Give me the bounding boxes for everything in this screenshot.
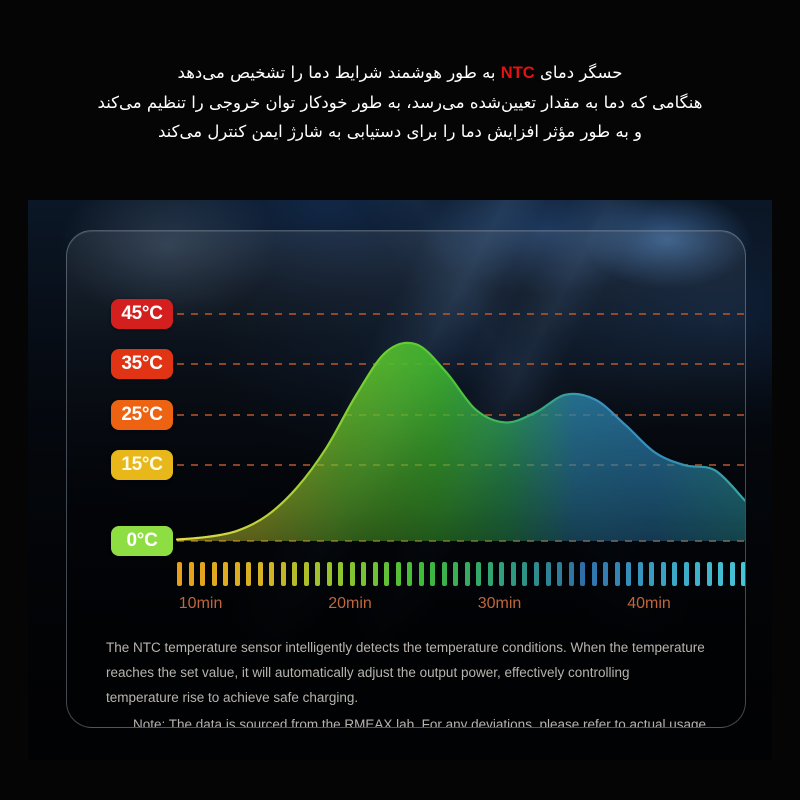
gauge-bar	[626, 562, 631, 586]
gauge-bar	[407, 562, 412, 586]
gauge-bar	[327, 562, 332, 586]
temp-chip-45c: 45°C	[111, 299, 173, 329]
gauge-bar	[730, 562, 735, 586]
gauge-bar	[718, 562, 723, 586]
headline-block: حسگر دمای NTC به طور هوشمند شرایط دما را…	[0, 58, 800, 146]
headline-line-1: حسگر دمای NTC به طور هوشمند شرایط دما را…	[0, 58, 800, 88]
temp-chip-25c: 25°C	[111, 400, 173, 430]
gauge-bar	[212, 562, 217, 586]
chart-plot-area: 0°C15°C25°C35°C45°C 10min20min30min40min…	[67, 231, 745, 727]
gauge-bar	[442, 562, 447, 586]
gauge-bar	[465, 562, 470, 586]
gauge-bar	[661, 562, 666, 586]
gauge-bar	[177, 562, 182, 586]
gauge-bar	[223, 562, 228, 586]
gauge-bar	[741, 562, 746, 586]
chart-panel: 0°C15°C25°C35°C45°C 10min20min30min40min…	[28, 200, 772, 760]
gauge-bar	[373, 562, 378, 586]
headline-line-3: و به طور مؤثر افزایش دما را برای دستیابی…	[0, 117, 800, 146]
gauge-bar	[396, 562, 401, 586]
gauge-bar	[615, 562, 620, 586]
time-axis-label-20min: 20min	[328, 595, 372, 613]
gauge-bar	[453, 562, 458, 586]
gauge-bar	[546, 562, 551, 586]
gauge-bar	[499, 562, 504, 586]
gauge-bar	[315, 562, 320, 586]
gauge-bar	[488, 562, 493, 586]
gauge-bar	[580, 562, 585, 586]
gauge-bar	[638, 562, 643, 586]
gauge-bar	[292, 562, 297, 586]
gauge-bar	[246, 562, 251, 586]
gauge-bar	[534, 562, 539, 586]
gauge-bar	[522, 562, 527, 586]
gauge-bar	[200, 562, 205, 586]
temp-chip-15c: 15°C	[111, 450, 173, 480]
time-gauge-bars	[177, 562, 746, 586]
gauge-bar	[235, 562, 240, 586]
chart-note: Note: The data is sourced from the RMEAX…	[133, 715, 746, 728]
chart-card: 0°C15°C25°C35°C45°C 10min20min30min40min…	[66, 230, 746, 728]
gauge-bar	[569, 562, 574, 586]
gauge-bar	[419, 562, 424, 586]
gauge-bar	[707, 562, 712, 586]
gauge-bar	[304, 562, 309, 586]
gauge-bar	[430, 562, 435, 586]
gauge-bar	[361, 562, 366, 586]
gauge-bar	[189, 562, 194, 586]
gauge-bar	[338, 562, 343, 586]
gauge-bar	[603, 562, 608, 586]
time-axis: 10min20min30min40min	[67, 595, 745, 617]
temp-chip-35c: 35°C	[111, 349, 173, 379]
gauge-bar	[384, 562, 389, 586]
gauge-bar	[684, 562, 689, 586]
temp-chip-0c: 0°C	[111, 526, 173, 556]
gauge-bar	[258, 562, 263, 586]
gauge-bar	[511, 562, 516, 586]
chart-caption: The NTC temperature sensor intelligently…	[106, 635, 706, 710]
gauge-bar	[695, 562, 700, 586]
headline-ntc-label: NTC	[501, 64, 535, 82]
gauge-bar	[269, 562, 274, 586]
gauge-bar	[350, 562, 355, 586]
time-axis-label-30min: 30min	[478, 595, 522, 613]
time-axis-label-40min: 40min	[627, 595, 671, 613]
gauge-bar	[476, 562, 481, 586]
headline-line-1-post: به طور هوشمند شرایط دما را تشخیص می‌دهد	[178, 63, 501, 82]
gauge-bar	[557, 562, 562, 586]
gauge-bar	[672, 562, 677, 586]
headline-line-2: هنگامی که دما به مقدار تعیین‌شده می‌رسد،…	[0, 88, 800, 117]
gauge-bar	[592, 562, 597, 586]
headline-line-1-pre: حسگر دمای	[535, 63, 623, 82]
time-axis-label-10min: 10min	[179, 595, 223, 613]
product-infographic-page: حسگر دمای NTC به طور هوشمند شرایط دما را…	[0, 0, 800, 800]
gauge-bar	[281, 562, 286, 586]
gauge-bar	[649, 562, 654, 586]
